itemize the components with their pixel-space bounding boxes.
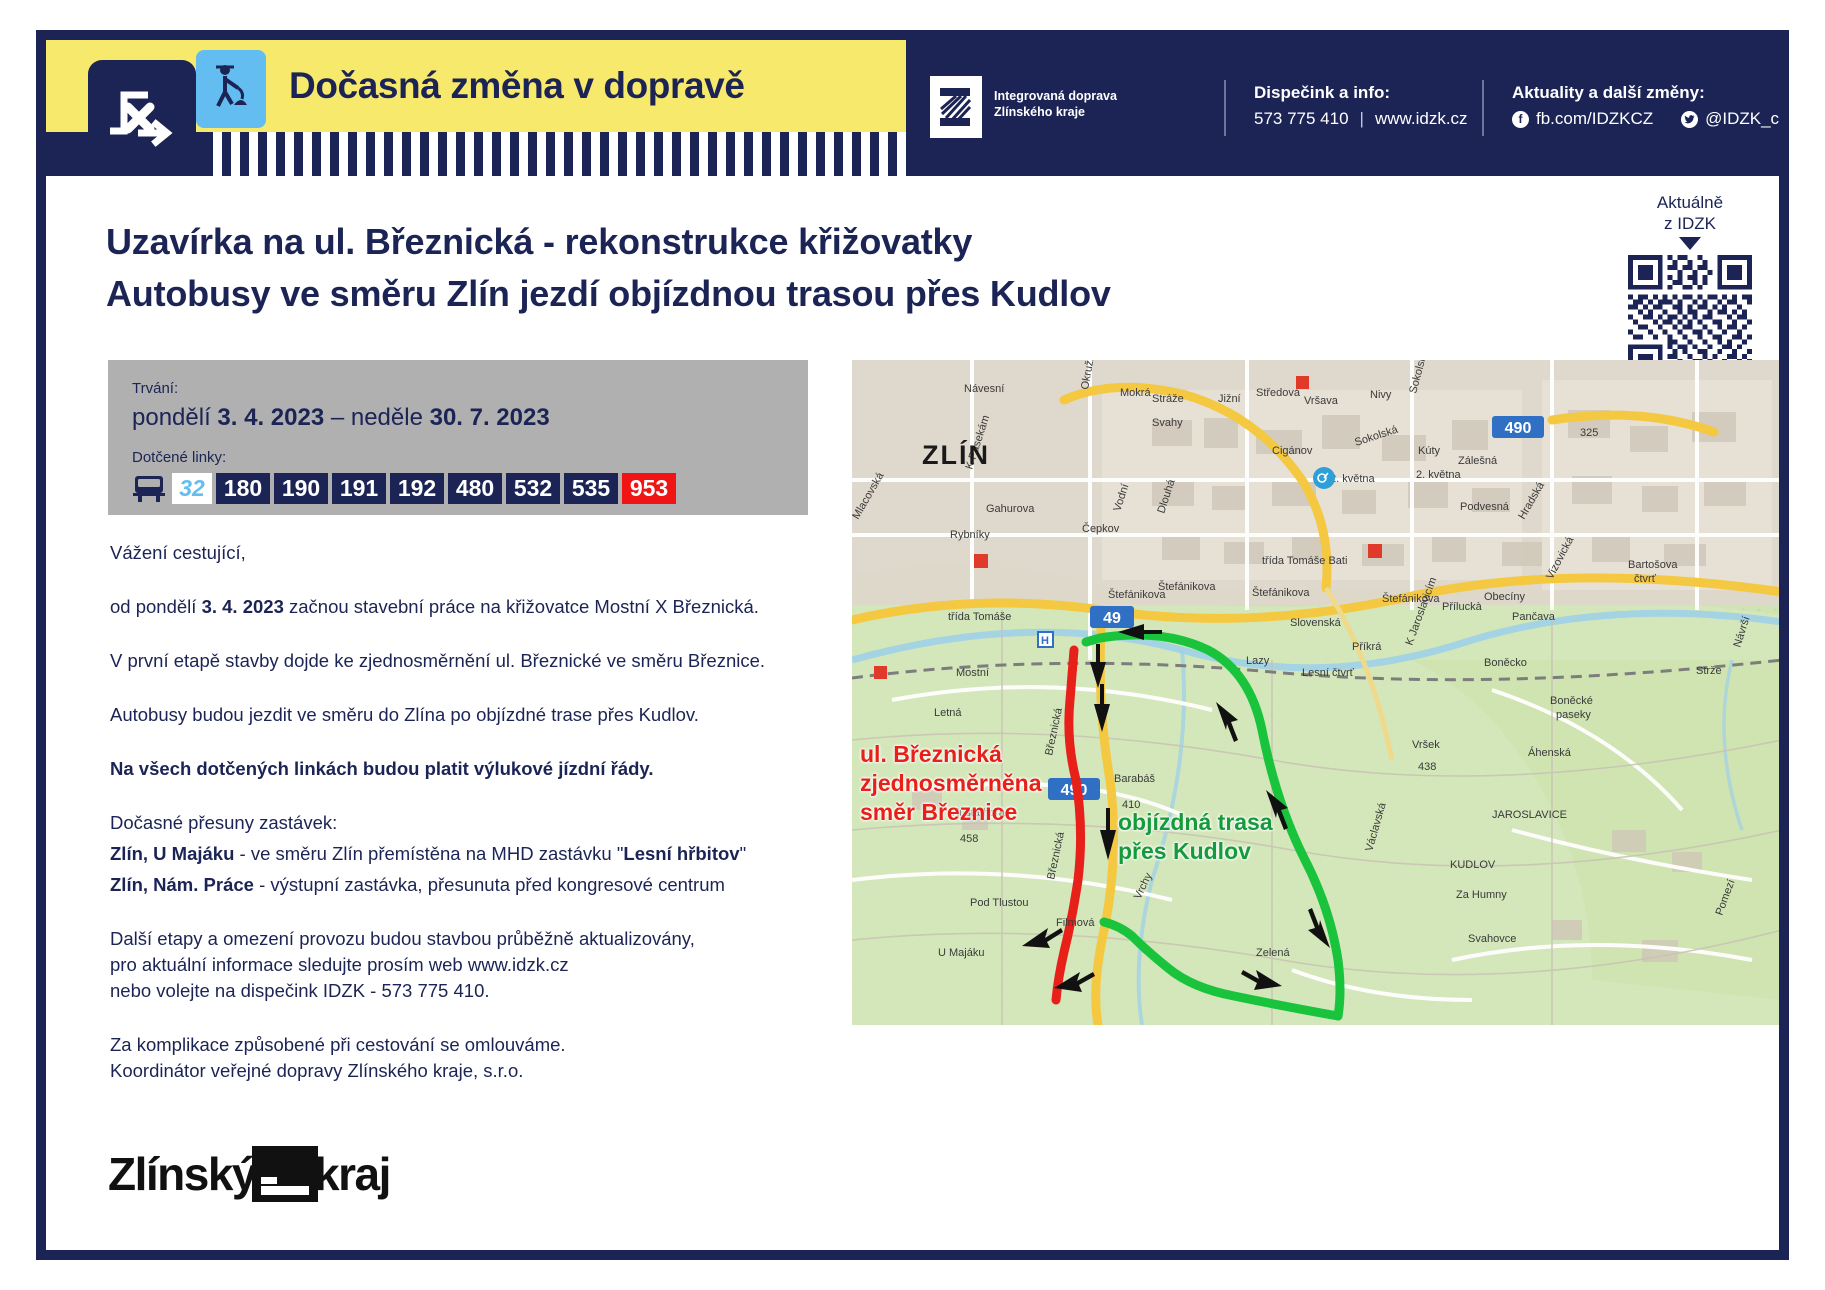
qr-caption-line2: z IDZK [1625, 213, 1755, 234]
apology-line-1: Za komplikace způsobené při cestování se… [110, 1032, 830, 1058]
svg-text:Svahovce: Svahovce [1468, 933, 1516, 945]
qr-block: Aktuálně z IDZK [1625, 192, 1755, 379]
header-divider-1 [1224, 80, 1226, 136]
idzk-brand-line1: Integrovaná doprava [994, 88, 1117, 104]
svg-text:Obecíny: Obecíny [1484, 591, 1525, 603]
svg-text:Čepkov: Čepkov [1082, 522, 1120, 535]
map-note-closure-l3: směr Březnice [860, 798, 1042, 827]
map-note-detour-l2: přes Kudlov [1118, 837, 1273, 866]
svg-text:Rybníky: Rybníky [950, 529, 990, 541]
svg-text:Mostní: Mostní [956, 667, 989, 679]
svg-text:Lazy: Lazy [1246, 655, 1270, 667]
header-banner-title: Dočasná změna v dopravě [289, 58, 745, 114]
svg-text:paseky: paseky [1556, 709, 1591, 721]
oneway-paragraph: V první etapě stavby dojde ke zjednosměr… [110, 648, 830, 674]
svg-text:49: 49 [1103, 610, 1121, 627]
info-box: Trvání: pondělí 3. 4. 2023 – neděle 30. … [108, 360, 808, 515]
dispatch-phone[interactable]: 573 775 410 [1254, 106, 1349, 132]
svg-text:Slovenská: Slovenská [1290, 617, 1342, 629]
svg-text:Strže: Strže [1696, 665, 1722, 677]
svg-text:Pančava: Pančava [1512, 611, 1556, 623]
twitter-link[interactable]: @IDZK_cz [1705, 106, 1787, 132]
map-city-label: ZLÍN [922, 440, 990, 471]
svg-text:Štefánikova: Štefánikova [1252, 586, 1310, 599]
header-bar: Dočasná změna v dopravě Integrovaná dopr… [46, 40, 1779, 176]
svg-text:Vršek: Vršek [1412, 739, 1440, 751]
detour-map[interactable]: 49 490 490 [852, 360, 1782, 1025]
line-badge[interactable]: 32 [172, 473, 212, 504]
stop-move-2-text: - výstupní zastávka, přesunuta před kong… [254, 874, 725, 895]
twitter-icon [1681, 111, 1698, 128]
line-badge[interactable]: 192 [390, 473, 444, 504]
lines-label: Dotčené linky: [132, 447, 808, 469]
idzk-brand-name: Integrovaná doprava Zlínského kraje [994, 88, 1117, 120]
news-label: Aktuality a další změny: [1512, 80, 1788, 106]
dispatch-label: Dispečink a info: [1254, 80, 1468, 106]
svg-text:Jižní: Jižní [1218, 393, 1241, 405]
stop-move-1: Zlín, U Majáku - ve směru Zlín přemístěn… [110, 841, 830, 867]
duration-value: pondělí 3. 4. 2023 – neděle 30. 7. 2023 [132, 401, 808, 435]
map-note-detour: objízdná trasa přes Kudlov [1118, 808, 1273, 866]
qr-caption-line1: Aktuálně [1625, 192, 1755, 213]
svg-text:Štefánikova: Štefánikova [1158, 580, 1216, 593]
works-start-c: začnou stavební práce na křižovatce Most… [284, 596, 759, 617]
map-note-closure-l2: zjednosměrněna [860, 769, 1042, 798]
logo-mark [252, 1146, 318, 1202]
svg-text:třída Tomáše Bati: třída Tomáše Bati [1262, 555, 1347, 567]
apology-line-2: Koordinátor veřejné dopravy Zlínského kr… [110, 1058, 830, 1084]
svg-text:438: 438 [1418, 761, 1436, 773]
svg-text:Za Humny: Za Humny [1456, 889, 1507, 901]
duration-to: 30. 7. 2023 [430, 404, 550, 431]
svg-text:Boněcké: Boněcké [1550, 695, 1593, 707]
stop-move-2: Zlín, Nám. Práce - výstupní zastávka, př… [110, 872, 830, 898]
works-start-paragraph: od pondělí 3. 4. 2023 začnou stavební pr… [110, 594, 830, 620]
detour-arrow-icon [88, 60, 196, 168]
line-badge[interactable]: 191 [332, 473, 386, 504]
bus-icon [132, 474, 166, 504]
timetable-notice: Na všech dotčených linkách budou platit … [110, 756, 830, 782]
svg-text:Zálešná: Zálešná [1458, 455, 1498, 467]
svg-text:Podvesná: Podvesná [1460, 501, 1510, 513]
works-start-a: od pondělí [110, 596, 202, 617]
roadworks-worker-icon [196, 50, 266, 128]
svg-text:KUDLOV: KUDLOV [1450, 859, 1496, 871]
svg-text:Nivy: Nivy [1370, 389, 1392, 401]
svg-text:Vršava: Vršava [1304, 395, 1339, 407]
map-note-closure-l1: ul. Březnická [860, 740, 1042, 769]
page-title-line1: Uzavírka na ul. Březnická - rekonstrukce… [106, 216, 1406, 268]
svg-text:Boněcko: Boněcko [1484, 657, 1527, 669]
svg-text:Příkrá: Příkrá [1352, 641, 1382, 653]
line-badge[interactable]: 535 [564, 473, 618, 504]
body-text: Vážení cestující, od pondělí 3. 4. 2023 … [110, 540, 830, 1112]
svg-text:Cigánov: Cigánov [1272, 445, 1313, 457]
affected-lines-list: 32 180 190 191 192 480 532 535 953 [132, 473, 808, 504]
svg-text:Stráže: Stráže [1152, 393, 1184, 405]
svg-text:třída Tomáše: třída Tomáše [948, 611, 1011, 623]
road-shield-490-north: 490 [1492, 416, 1544, 438]
svg-text:Pod Tlustou: Pod Tlustou [970, 897, 1029, 909]
map-note-detour-l1: objízdná trasa [1118, 808, 1273, 837]
chevron-down-icon [1679, 237, 1701, 250]
news-info: Aktuality a další změny: f fb.com/IDZKCZ… [1512, 80, 1788, 132]
svg-text:458: 458 [960, 833, 978, 845]
svg-text:Štefánikova: Štefánikova [1108, 588, 1166, 601]
line-badge[interactable]: 532 [506, 473, 560, 504]
idzk-logo-icon [930, 76, 982, 138]
map-note-closure: ul. Březnická zjednosměrněna směr Březni… [860, 740, 1042, 827]
svg-text:Lesní čtvrť: Lesní čtvrť [1302, 667, 1355, 679]
updates-line-3: nebo volejte na dispečink IDZK - 573 775… [110, 978, 830, 1004]
hatch-stripes [204, 132, 906, 176]
timetable-notice-text: Na všech dotčených linkách budou platit … [110, 758, 653, 779]
page-title: Uzavírka na ul. Březnická - rekonstrukce… [106, 216, 1406, 320]
svg-text:H: H [1041, 635, 1049, 647]
duration-label: Trvání: [132, 378, 808, 400]
svg-text:JAROSLAVICE: JAROSLAVICE [1492, 809, 1567, 821]
logo-text-part1: Zlínský [108, 1151, 256, 1197]
svg-text:Návesní: Návesní [964, 383, 1004, 395]
line-badge[interactable]: 180 [216, 473, 270, 504]
svg-text:Barabáš: Barabáš [1114, 773, 1155, 785]
duration-dash: – neděle [324, 404, 429, 431]
svg-text:2. května: 2. května [1416, 469, 1462, 481]
header-divider-2 [1482, 80, 1484, 136]
line-badge[interactable]: 480 [448, 473, 502, 504]
detour-paragraph: Autobusy budou jezdit ve směru do Zlína … [110, 702, 830, 728]
dispatch-contact: 573 775 410 | www.idzk.cz [1254, 106, 1468, 132]
duration-prefix: pondělí [132, 404, 217, 431]
svg-text:Bartošova: Bartošova [1628, 559, 1678, 571]
svg-text:Příluckà: Příluckà [1442, 601, 1483, 613]
road-shield-49: 49 [1090, 606, 1134, 628]
logo-text-part2: kraj [314, 1151, 390, 1197]
dispatch-separator: | [1360, 106, 1364, 132]
line-badge[interactable]: 953 [622, 473, 676, 504]
stop-move-2-name: Zlín, Nám. Práce [110, 874, 254, 895]
dispatch-info: Dispečink a info: 573 775 410 | www.idzk… [1254, 80, 1468, 132]
dispatch-web-link[interactable]: www.idzk.cz [1375, 106, 1468, 132]
stop-moves-heading: Dočasné přesuny zastávek: [110, 810, 830, 836]
map-canvas: 49 490 490 [852, 360, 1782, 1025]
svg-text:Filmová: Filmová [1056, 917, 1095, 929]
svg-text:Zelená: Zelená [1256, 947, 1291, 959]
svg-text:čtvrť: čtvrť [1634, 573, 1657, 585]
poster-frame: Dočasná změna v dopravě Integrovaná dopr… [36, 30, 1789, 1260]
stop-move-1-target: Lesní hřbitov [623, 843, 739, 864]
idzk-brand-line2: Zlínského kraje [994, 104, 1117, 120]
svg-text:Gahurova: Gahurova [986, 503, 1035, 515]
svg-text:Kúty: Kúty [1418, 445, 1441, 457]
svg-text:490: 490 [1505, 420, 1532, 437]
stop-move-1-end: " [740, 843, 747, 864]
facebook-icon: f [1512, 111, 1529, 128]
page-title-line2: Autobusy ve směru Zlín jezdí objízdnou t… [106, 268, 1406, 320]
svg-text:Svahy: Svahy [1152, 417, 1183, 429]
duration-from: 3. 4. 2023 [217, 404, 324, 431]
zlinsky-kraj-logo-icon: Zlínský kraj [108, 1146, 390, 1202]
svg-text:325: 325 [1580, 427, 1598, 439]
svg-text:Letná: Letná [934, 707, 962, 719]
greeting-paragraph: Vážení cestující, [110, 540, 830, 566]
svg-text:2. května: 2. května [1330, 473, 1376, 485]
updates-line-1: Další etapy a omezení provozu budou stav… [110, 926, 830, 952]
stop-move-1-text: - ve směru Zlín přemístěna na MHD zastáv… [234, 843, 623, 864]
poster-page: Dočasná změna v dopravě Integrovaná dopr… [0, 0, 1825, 1290]
stop-move-1-name: Zlín, U Majáku [110, 843, 234, 864]
line-badge[interactable]: 190 [274, 473, 328, 504]
svg-text:Áhenská: Áhenská [1528, 746, 1572, 759]
facebook-link[interactable]: fb.com/IDZKCZ [1536, 106, 1653, 132]
works-start-date: 3. 4. 2023 [202, 596, 284, 617]
svg-text:Středová: Středová [1256, 387, 1301, 399]
svg-text:Mokrá: Mokrá [1120, 387, 1151, 399]
social-links: f fb.com/IDZKCZ @IDZK_cz [1512, 106, 1788, 132]
svg-text:U Majáku: U Majáku [938, 947, 984, 959]
updates-line-2: pro aktuální informace sledujte prosím w… [110, 952, 830, 978]
